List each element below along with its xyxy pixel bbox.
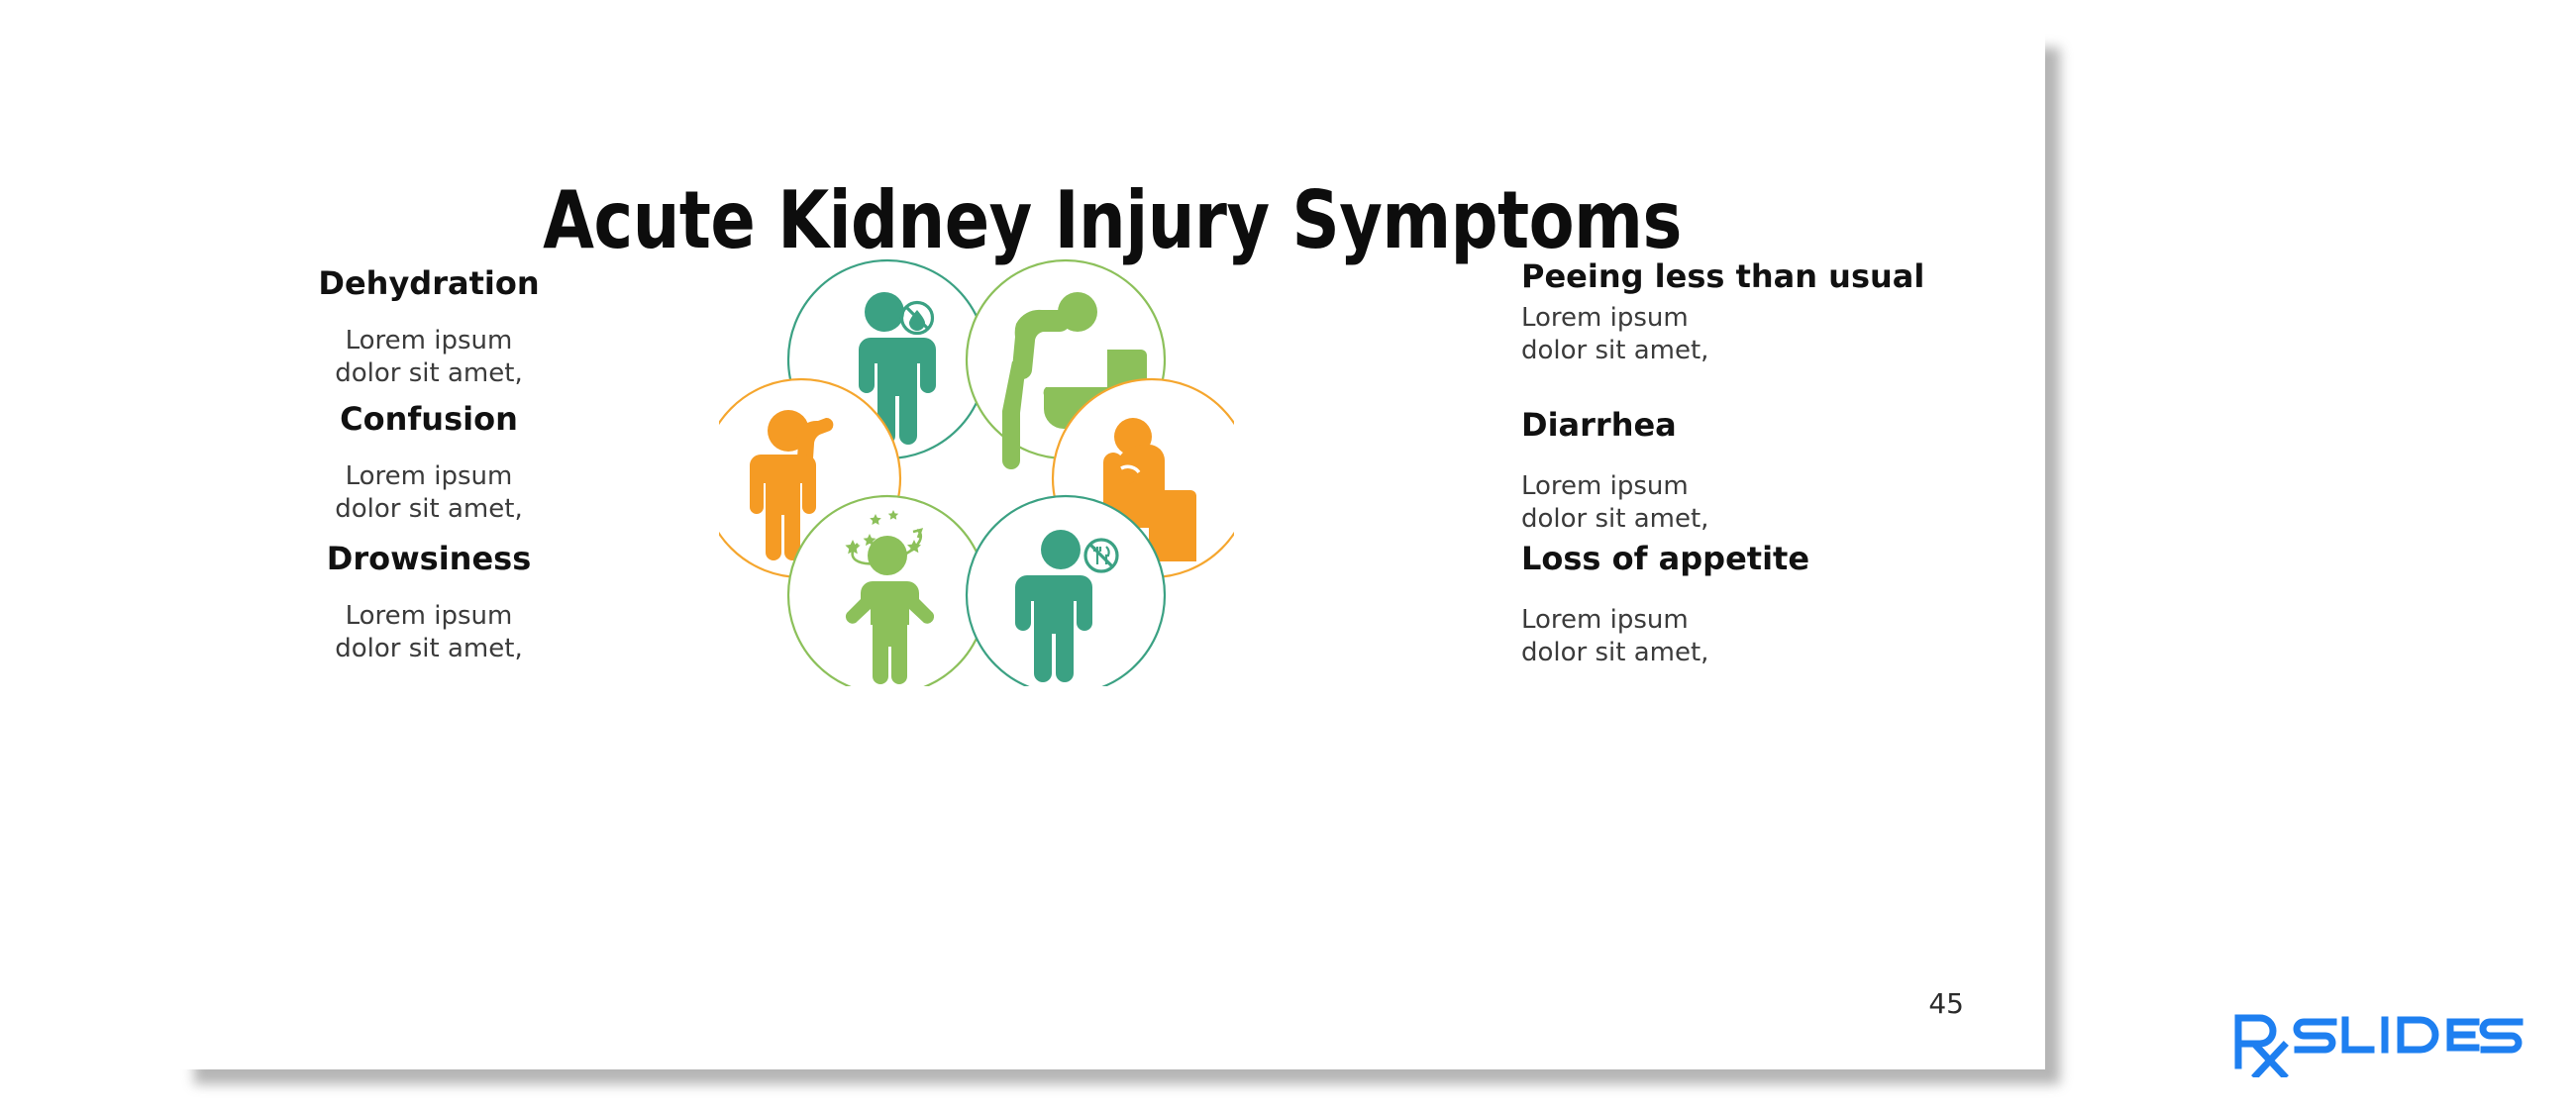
- symptom-body: Lorem ipsum dolor sit amet,: [1521, 470, 1947, 537]
- symptom-heading: Dehydration: [221, 265, 637, 303]
- symptom-block-peeing-less-than-usual: Peeing less than usual Lorem ipsum dolor…: [1521, 258, 1947, 367]
- symptom-body: Lorem ipsum dolor sit amet,: [1521, 302, 1947, 368]
- symptom-heading: Loss of appetite: [1521, 541, 1947, 578]
- symptom-body: Lorem ipsum dolor sit amet,: [221, 325, 637, 391]
- symptom-block-loss-of-appetite: Loss of appetite Lorem ipsum dolor sit a…: [1521, 541, 1947, 669]
- symptom-body: Lorem ipsum dolor sit amet,: [221, 460, 637, 527]
- symptom-block-dehydration: Dehydration Lorem ipsum dolor sit amet,: [221, 265, 637, 390]
- page-number: 45: [1928, 987, 1964, 1020]
- symptom-block-drowsiness: Drowsiness Lorem ipsum dolor sit amet,: [221, 541, 637, 665]
- symptom-body: Lorem ipsum dolor sit amet,: [1521, 604, 1947, 670]
- symptom-heading: Diarrhea: [1521, 407, 1947, 445]
- symptom-heading: Drowsiness: [221, 541, 637, 578]
- presentation-slide: Acute Kidney Injury Symptoms Dehydration…: [179, 33, 2045, 1069]
- petal-drowsiness: [788, 496, 986, 686]
- symptom-heading: Peeing less than usual: [1521, 258, 1947, 296]
- symptom-body: Lorem ipsum dolor sit amet,: [221, 600, 637, 666]
- symptom-heading: Confusion: [221, 401, 637, 439]
- symptom-block-confusion: Confusion Lorem ipsum dolor sit amet,: [221, 401, 637, 526]
- symptom-block-diarrhea: Diarrhea Lorem ipsum dolor sit amet,: [1521, 407, 1947, 536]
- petal-circle-diagram: [719, 241, 1234, 686]
- rxslides-logo: [2230, 1008, 2527, 1077]
- petal-loss-of-appetite: [967, 496, 1165, 686]
